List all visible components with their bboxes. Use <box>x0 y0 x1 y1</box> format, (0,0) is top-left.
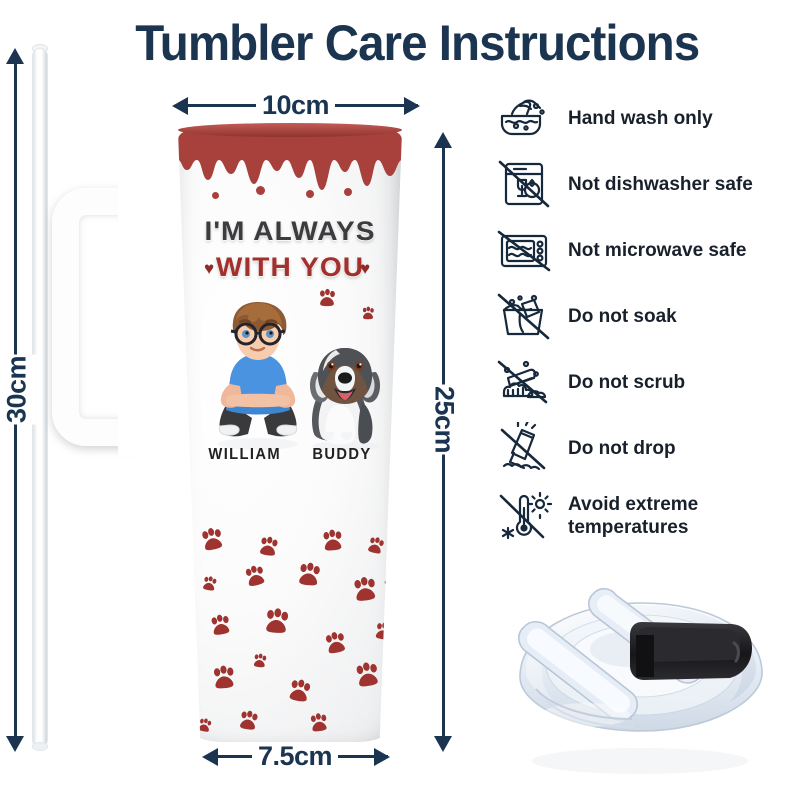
tumbler-rim <box>178 123 402 137</box>
care-item: Not microwave safe <box>496 220 796 280</box>
body-height-label: 25cm <box>425 385 464 455</box>
no-dishwasher-icon <box>496 158 552 210</box>
care-item-label: Do not drop <box>568 437 676 460</box>
care-item: Do not scrub <box>496 352 796 412</box>
drip-dot <box>344 188 352 196</box>
heart-left-icon: ♥ <box>204 260 214 277</box>
lid-graphic-icon <box>490 565 790 780</box>
person-name: WILLIAM <box>208 446 281 464</box>
straw-bottom-cap <box>32 742 48 751</box>
no-microwave-icon <box>496 224 552 276</box>
care-item-label: Avoid extreme temperatures <box>568 493 758 539</box>
care-item: Avoid extreme temperatures <box>496 484 796 548</box>
care-item-label: Hand wash only <box>568 107 713 130</box>
drip-dot <box>306 190 314 198</box>
care-item-label: Do not soak <box>568 305 677 328</box>
hand-wash-icon <box>496 92 552 144</box>
overall-height-label: 30cm <box>0 355 37 425</box>
body-height-arrow-bottom <box>434 736 452 752</box>
slogan-line-1: I'M ALWAYS <box>178 216 402 247</box>
height-arrow-bottom <box>6 736 24 752</box>
no-scrub-icon <box>496 356 552 408</box>
care-item-label: Not microwave safe <box>568 239 746 262</box>
boy-character <box>206 298 310 450</box>
heart-right-icon: ♥ <box>360 260 370 277</box>
name-row: WILLIAM BUDDY <box>187 446 393 464</box>
care-item: Not dishwasher safe <box>496 154 796 214</box>
no-drop-icon <box>496 422 552 474</box>
handle-join-mask <box>118 180 178 456</box>
top-width-label: 10cm <box>256 90 335 121</box>
drip-dot <box>212 192 219 199</box>
care-item-label: Not dishwasher safe <box>568 173 753 196</box>
paw-pattern <box>178 516 402 742</box>
bottom-width-arrow-right <box>374 748 390 766</box>
care-instruction-list: Hand wash only Not dishwasher safe <box>496 88 796 554</box>
drip-decoration <box>178 130 402 206</box>
lid-illustration <box>490 565 790 780</box>
page-title: Tumbler Care Instructions <box>80 14 755 72</box>
tumbler-illustration: I'M ALWAYS WITH YOU ♥ ♥ <box>160 130 420 750</box>
care-item: Hand wash only <box>496 88 796 148</box>
tumbler-body: I'M ALWAYS WITH YOU ♥ ♥ <box>178 130 402 742</box>
pet-name: BUDDY <box>312 446 371 464</box>
drip-dot <box>256 186 265 195</box>
paw-print-icon <box>316 288 338 310</box>
avoid-temperature-icon <box>496 490 552 542</box>
care-item: Do not soak <box>496 286 796 346</box>
no-soak-icon <box>496 290 552 342</box>
care-item: Do not drop <box>496 418 796 478</box>
care-item-label: Do not scrub <box>568 371 685 394</box>
paw-print-icon <box>360 306 376 322</box>
infographic-canvas: Tumbler Care Instructions 30cm 10cm 25cm… <box>0 0 800 800</box>
top-width-arrow-right <box>404 97 420 115</box>
dog-character <box>300 336 392 452</box>
